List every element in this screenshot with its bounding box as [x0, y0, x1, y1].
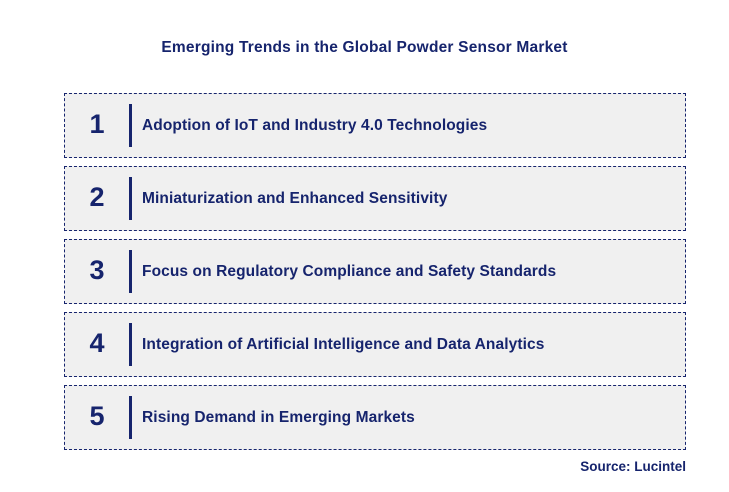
- trend-row: 3 Focus on Regulatory Compliance and Saf…: [64, 239, 686, 304]
- infographic-canvas: Emerging Trends in the Global Powder Sen…: [0, 0, 729, 492]
- trend-number: 1: [65, 111, 129, 140]
- trend-number: 4: [65, 330, 129, 359]
- page-title: Emerging Trends in the Global Powder Sen…: [0, 39, 729, 57]
- trend-list: 1 Adoption of IoT and Industry 4.0 Techn…: [64, 93, 686, 450]
- trend-label: Adoption of IoT and Industry 4.0 Technol…: [132, 117, 685, 135]
- trend-label: Miniaturization and Enhanced Sensitivity: [132, 190, 685, 208]
- trend-number: 2: [65, 184, 129, 213]
- trend-row: 5 Rising Demand in Emerging Markets: [64, 385, 686, 450]
- trend-number: 5: [65, 403, 129, 432]
- trend-number: 3: [65, 257, 129, 286]
- trend-label: Rising Demand in Emerging Markets: [132, 409, 685, 427]
- trend-row: 1 Adoption of IoT and Industry 4.0 Techn…: [64, 93, 686, 158]
- trend-row: 2 Miniaturization and Enhanced Sensitivi…: [64, 166, 686, 231]
- trend-row: 4 Integration of Artificial Intelligence…: [64, 312, 686, 377]
- trend-label: Focus on Regulatory Compliance and Safet…: [132, 263, 685, 281]
- source-attribution: Source: Lucintel: [580, 459, 686, 474]
- trend-label: Integration of Artificial Intelligence a…: [132, 336, 685, 354]
